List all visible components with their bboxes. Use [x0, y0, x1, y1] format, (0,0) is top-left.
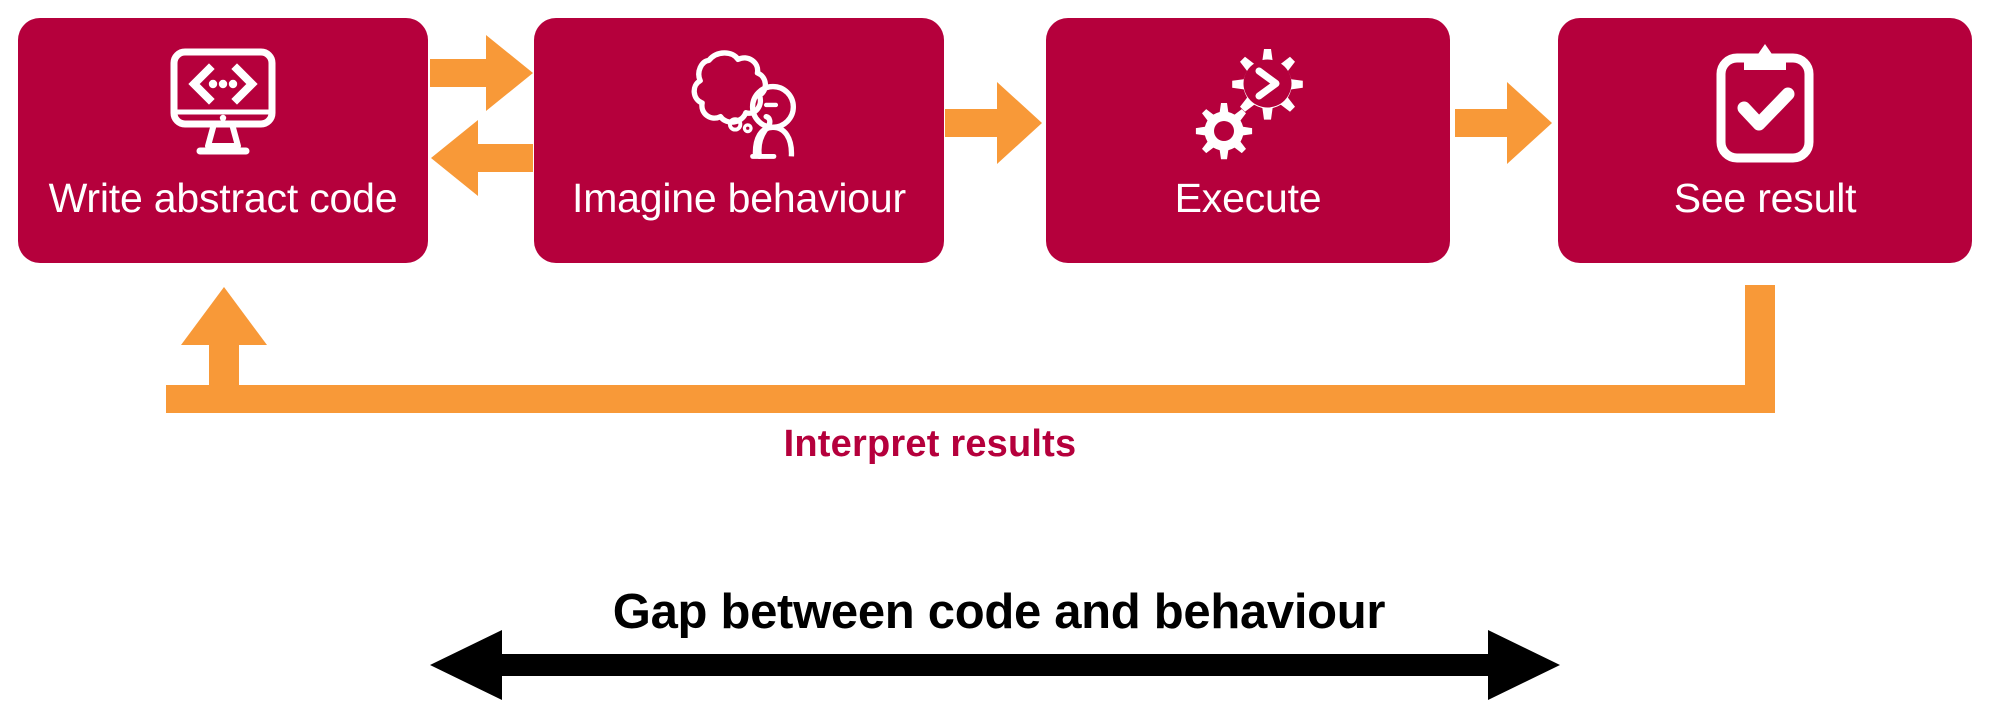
monitor-code-icon [158, 34, 288, 174]
process-step-label: Imagine behaviour [572, 178, 906, 219]
process-step-execute[interactable]: Execute [1046, 18, 1450, 263]
process-step-label: Write abstract code [49, 178, 398, 219]
gears-play-icon [1183, 34, 1313, 174]
double-headed-arrow-icon [430, 628, 1560, 702]
feedback-loop-label: Interpret results [0, 423, 1860, 466]
process-step-write-abstract-code[interactable]: Write abstract code [18, 18, 428, 263]
diagram-canvas: Write abstract code Imagine behaviour [0, 0, 1998, 717]
feedback-loop-arrow-icon [150, 285, 1790, 420]
arrow-right-icon [945, 80, 1043, 166]
thinking-person-icon [674, 34, 804, 174]
process-step-label: See result [1674, 178, 1857, 219]
arrow-right-icon [1455, 80, 1553, 166]
clipboard-check-icon [1700, 34, 1830, 174]
process-step-label: Execute [1175, 178, 1322, 219]
process-step-imagine-behaviour[interactable]: Imagine behaviour [534, 18, 944, 263]
process-step-see-result[interactable]: See result [1558, 18, 1972, 263]
arrow-right-icon [430, 33, 534, 113]
arrow-left-icon [430, 118, 534, 198]
